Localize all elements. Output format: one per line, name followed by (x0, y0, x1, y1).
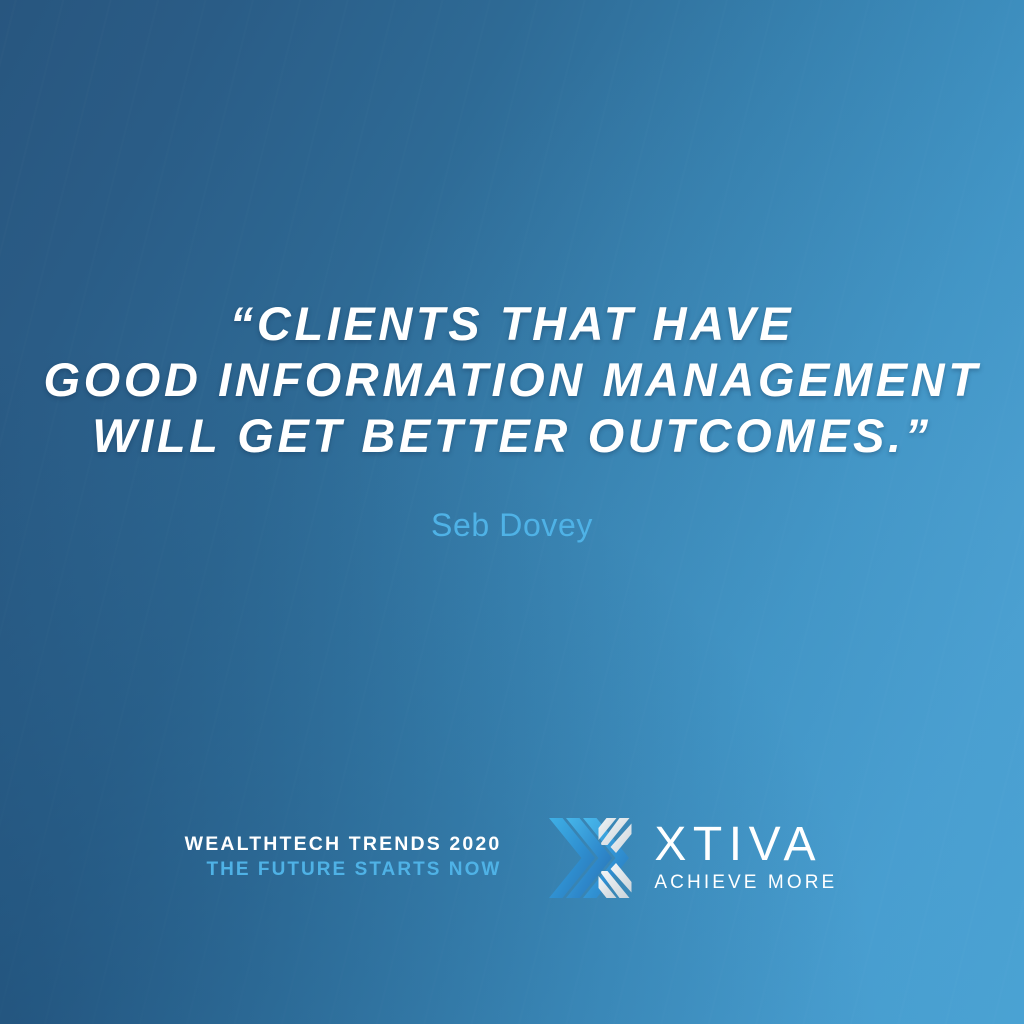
footer: WEALTHTECH TRENDS 2020 THE FUTURE STARTS… (0, 812, 1024, 904)
brand-logo: XTIVA ACHIEVE MORE (548, 816, 839, 900)
brand-name: XTIVA (654, 820, 839, 870)
brand-wordmark-group: XTIVA ACHIEVE MORE (654, 820, 839, 897)
quote-line-2: GOOD INFORMATION MANAGEMENT (0, 352, 1024, 408)
event-branding: WEALTHTECH TRENDS 2020 THE FUTURE STARTS… (185, 831, 502, 885)
quote-line-3: WILL GET BETTER OUTCOMES.” (0, 408, 1024, 464)
quote-poster: “CLIENTS THAT HAVE GOOD INFORMATION MANA… (0, 0, 1024, 1024)
event-title: WEALTHTECH TRENDS 2020 (185, 831, 502, 857)
xtiva-chevron-x-logo-icon (548, 816, 632, 900)
brand-tagline: ACHIEVE MORE (654, 870, 839, 896)
quote-attribution: Seb Dovey (0, 505, 1024, 545)
quote-line-1: “CLIENTS THAT HAVE (0, 296, 1024, 352)
quote-block: “CLIENTS THAT HAVE GOOD INFORMATION MANA… (0, 296, 1024, 464)
event-tagline: THE FUTURE STARTS NOW (185, 857, 502, 883)
